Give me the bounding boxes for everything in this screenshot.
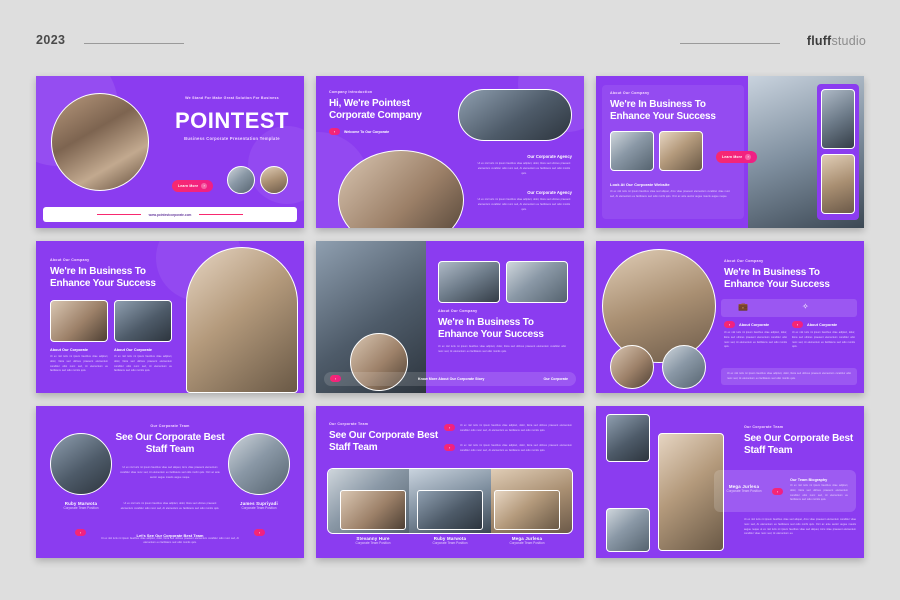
- about2-block-2: About Our Corporate Ut ex nisl turis mi …: [114, 348, 172, 374]
- features-footer-note: Ut ex nisl turis mi ipsum faucibus vitae…: [721, 368, 857, 385]
- intro-kicker: Company Introduction: [329, 90, 372, 94]
- bio-block-body: Ut ex nisl turis mi ipsum faucibus vitae…: [790, 484, 848, 503]
- cover-tagline: We Stand For Make Great Solution For Bus…: [172, 96, 292, 100]
- arrow-right-icon: ›: [444, 444, 455, 451]
- footer-rule-left: [97, 214, 141, 215]
- story-bar-left-label: Know More About Our Corporate Story: [418, 377, 484, 381]
- team2-member-2: James Supriyadi Corporate Team Position: [228, 501, 290, 510]
- bio-kicker: Our Corporate Team: [744, 425, 783, 429]
- team3-member-caption-3: Mega Jurlesa Corporate Team Position: [494, 536, 560, 545]
- intro-photo-main: [458, 89, 572, 141]
- intro-block-1-body: Ut ex nisl turis mi ipsum faucibus vitae…: [476, 162, 572, 176]
- team2-body-2: Ut ex nisl turis mi ipsum faucibus vitae…: [120, 502, 220, 512]
- intro-block-1: Our Corporate Agency Ut ex nisl turis mi…: [476, 154, 572, 176]
- intro-welcome-button[interactable]: › Welcome To Our Corporate: [329, 128, 389, 135]
- cover-title: POINTEST: [169, 108, 295, 134]
- features-title: We're In Business To Enhance Your Succes…: [724, 267, 856, 291]
- features-card-2: ›About Corporate Ut ex nisl turis mi ips…: [792, 321, 855, 350]
- features-card-2-title: About Corporate: [807, 323, 837, 327]
- team2-cta-body: Ut ex nisl turis mi ipsum faucibus vitae…: [100, 537, 240, 547]
- team3-note-1-body: Ut ex nisl turis mi ipsum faucibus vitae…: [460, 424, 572, 434]
- about2-block-1-body: Ut ex nisl turis mi ipsum faucibus vitae…: [50, 355, 108, 374]
- header-brand-bold: fluff: [807, 34, 832, 48]
- arrow-right-icon[interactable]: ›: [75, 529, 86, 536]
- arrow-right-icon[interactable]: ›: [772, 488, 783, 495]
- team3-note-2-body: Ut ex nisl turis mi ipsum faucibus vitae…: [460, 444, 572, 454]
- slide-about-features[interactable]: About Our Company We're In Business To E…: [596, 241, 864, 393]
- bio-member: Mega Jurlesa Corporate Team Position: [720, 484, 768, 493]
- arrow-right-icon: ›: [201, 183, 207, 189]
- team2-member-1-role: Corporate Team Position: [50, 506, 112, 510]
- slide-about-story[interactable]: About Our Company We're In Business To E…: [316, 241, 584, 393]
- header: 2023 fluffstudio: [0, 0, 900, 72]
- intro-block-2: Our Corporate Agency Ut ex nisl turis mi…: [476, 190, 572, 212]
- slide-introduction[interactable]: Company Introduction Hi, We're Pointest …: [316, 76, 584, 228]
- story-kicker: About Our Company: [438, 309, 477, 313]
- intro-title: Hi, We're Pointest Corporate Company: [329, 98, 454, 122]
- about-title: We're In Business To Enhance Your Succes…: [610, 99, 735, 123]
- cursor-icon: ✧: [802, 302, 809, 311]
- about-learn-more-button[interactable]: Learn More›: [716, 145, 757, 163]
- presentation-preview-page: 2023 fluffstudio We Stand For Make Great…: [0, 0, 900, 600]
- slide-grid: We Stand For Make Great Solution For Bus…: [36, 76, 864, 566]
- features-footer-body: Ut ex nisl turis mi ipsum faucibus vitae…: [727, 372, 851, 382]
- team3-member-1-role: Corporate Team Position: [340, 541, 406, 545]
- features-circle-photo: [602, 249, 716, 363]
- bio-photo-2: [606, 508, 650, 552]
- team3-kicker: Our Corporate Team: [329, 422, 368, 426]
- bio-block: Our Team Biography Ut ex nisl turis mi i…: [790, 478, 848, 503]
- bio-body: Ut ex nisl turis mi ipsum faucibus vitae…: [744, 518, 856, 537]
- story-thumb-1: [438, 261, 500, 303]
- intro-block-1-title: Our Corporate Agency: [476, 154, 572, 159]
- arrow-right-icon: ›: [329, 128, 340, 135]
- slide-team-three[interactable]: Our Corporate Team See Our Corporate Bes…: [316, 406, 584, 558]
- cover-thumb-2: [260, 166, 288, 194]
- intro-welcome-label: Welcome To Our Corporate: [344, 130, 389, 134]
- cover-subtitle: Business Corporate Presentation Template: [169, 136, 295, 141]
- about2-title: We're In Business To Enhance Your Succes…: [50, 266, 180, 290]
- bio-block-title: Our Team Biography: [790, 478, 848, 482]
- arrow-right-icon: ›: [745, 154, 751, 160]
- header-rule-right: [680, 43, 780, 44]
- team3-member-2-role: Corporate Team Position: [417, 541, 483, 545]
- cover-footer: www.pointestcorporate.com: [43, 207, 297, 222]
- features-card-1-title: About Corporate: [739, 323, 769, 327]
- team2-member-1: Ruby Marwota Corporate Team Position: [50, 501, 112, 510]
- about-subheading: Look At Our Corporate Website: [610, 182, 670, 187]
- briefcase-icon: 💼: [738, 302, 748, 311]
- header-brand-light: studio: [831, 34, 866, 48]
- story-bar-right-label: Our Corporate: [543, 377, 568, 381]
- cover-photo: [51, 93, 149, 191]
- slide-cover[interactable]: We Stand For Make Great Solution For Bus…: [36, 76, 304, 228]
- about2-arch-photo: [186, 247, 298, 393]
- about2-block-1-title: About Our Corporate: [50, 348, 108, 352]
- intro-block-2-body: Ut ex nisl turis mi ipsum faucibus vitae…: [476, 198, 572, 212]
- team3-note-1: › Ut ex nisl turis mi ipsum faucibus vit…: [444, 424, 572, 434]
- team3-member-photo-1: [340, 490, 406, 530]
- team2-member-2-role: Corporate Team Position: [228, 506, 290, 510]
- cover-button-label: Learn More: [178, 184, 198, 188]
- story-title: We're In Business To Enhance Your Succes…: [438, 317, 570, 341]
- team2-photo-2: [228, 433, 290, 495]
- intro-block-2-title: Our Corporate Agency: [476, 190, 572, 195]
- about2-block-2-title: About Our Corporate: [114, 348, 172, 352]
- team2-kicker: Our Corporate Team: [120, 424, 220, 428]
- team3-member-photo-3: [494, 490, 560, 530]
- arrow-right-icon: ›: [792, 321, 803, 328]
- team3-title: See Our Corporate Best Staff Team: [329, 430, 449, 454]
- bio-member-role: Corporate Team Position: [720, 489, 768, 493]
- team2-photo-1: [50, 433, 112, 495]
- about2-block-2-body: Ut ex nisl turis mi ipsum faucibus vitae…: [114, 355, 172, 374]
- about-side-thumb-2: [821, 154, 855, 214]
- about-body: Ut ex nisl turis mi ipsum faucibus vitae…: [610, 190, 730, 200]
- story-thumb-2: [506, 261, 568, 303]
- about-kicker: About Our Company: [610, 91, 649, 95]
- team3-member-caption-1: Stevanny Hure Corporate Team Position: [340, 536, 406, 545]
- arrow-right-icon[interactable]: ›: [330, 375, 341, 382]
- slide-team-two[interactable]: Our Corporate Team See Our Corporate Bes…: [36, 406, 304, 558]
- slide-about-two-column[interactable]: About Our Company We're In Business To E…: [36, 241, 304, 393]
- about-side-thumb-1: [821, 89, 855, 149]
- slide-team-biography[interactable]: Our Corporate Team See Our Corporate Bes…: [596, 406, 864, 558]
- cover-url: www.pointestcorporate.com: [149, 213, 192, 217]
- team3-member-3-role: Corporate Team Position: [494, 541, 560, 545]
- team3-member-caption-2: Ruby Marwota Corporate Team Position: [417, 536, 483, 545]
- cover-learn-more-button[interactable]: Learn More›: [172, 174, 213, 192]
- features-thumb-1: [610, 345, 654, 389]
- about-button-label: Learn More: [722, 155, 742, 159]
- team3-note-2: › Ut ex nisl turis mi ipsum faucibus vit…: [444, 444, 572, 454]
- features-card-1-body: Ut ex nisl turis mi ipsum faucibus vitae…: [724, 331, 787, 350]
- features-thumb-2: [662, 345, 706, 389]
- features-kicker: About Our Company: [724, 259, 763, 263]
- about2-thumb-2: [114, 300, 172, 342]
- about2-block-1: About Our Corporate Ut ex nisl turis mi …: [50, 348, 108, 374]
- header-brand: fluffstudio: [807, 34, 866, 48]
- cover-thumb-1: [227, 166, 255, 194]
- bio-title: See Our Corporate Best Staff Team: [744, 433, 856, 457]
- team2-body-1: Ut ex nisl turis mi ipsum faucibus vitae…: [120, 466, 220, 480]
- team2-title: See Our Corporate Best Staff Team: [112, 432, 228, 456]
- about2-kicker: About Our Company: [50, 258, 89, 262]
- features-card-2-body: Ut ex nisl turis mi ipsum faucibus vitae…: [792, 331, 855, 350]
- story-bottom-bar[interactable]: Know More About Our Corporate Story Our …: [324, 372, 576, 386]
- header-year: 2023: [36, 33, 65, 47]
- bio-photo-1: [606, 414, 650, 462]
- header-rule-left: [84, 43, 184, 44]
- arrow-left-icon[interactable]: ‹: [254, 529, 265, 536]
- arrow-right-icon: ›: [724, 321, 735, 328]
- slide-about-website[interactable]: About Our Company We're In Business To E…: [596, 76, 864, 228]
- about-thumb-1: [610, 131, 654, 171]
- about2-thumb-1: [50, 300, 108, 342]
- footer-rule-right: [199, 214, 243, 215]
- story-body: Ut ex nisl turis mi ipsum faucibus vitae…: [438, 345, 566, 355]
- team3-member-photo-2: [417, 490, 483, 530]
- about-thumb-2: [659, 131, 703, 171]
- arrow-right-icon: ›: [444, 424, 455, 431]
- features-card-1: ›About Corporate Ut ex nisl turis mi ips…: [724, 321, 787, 350]
